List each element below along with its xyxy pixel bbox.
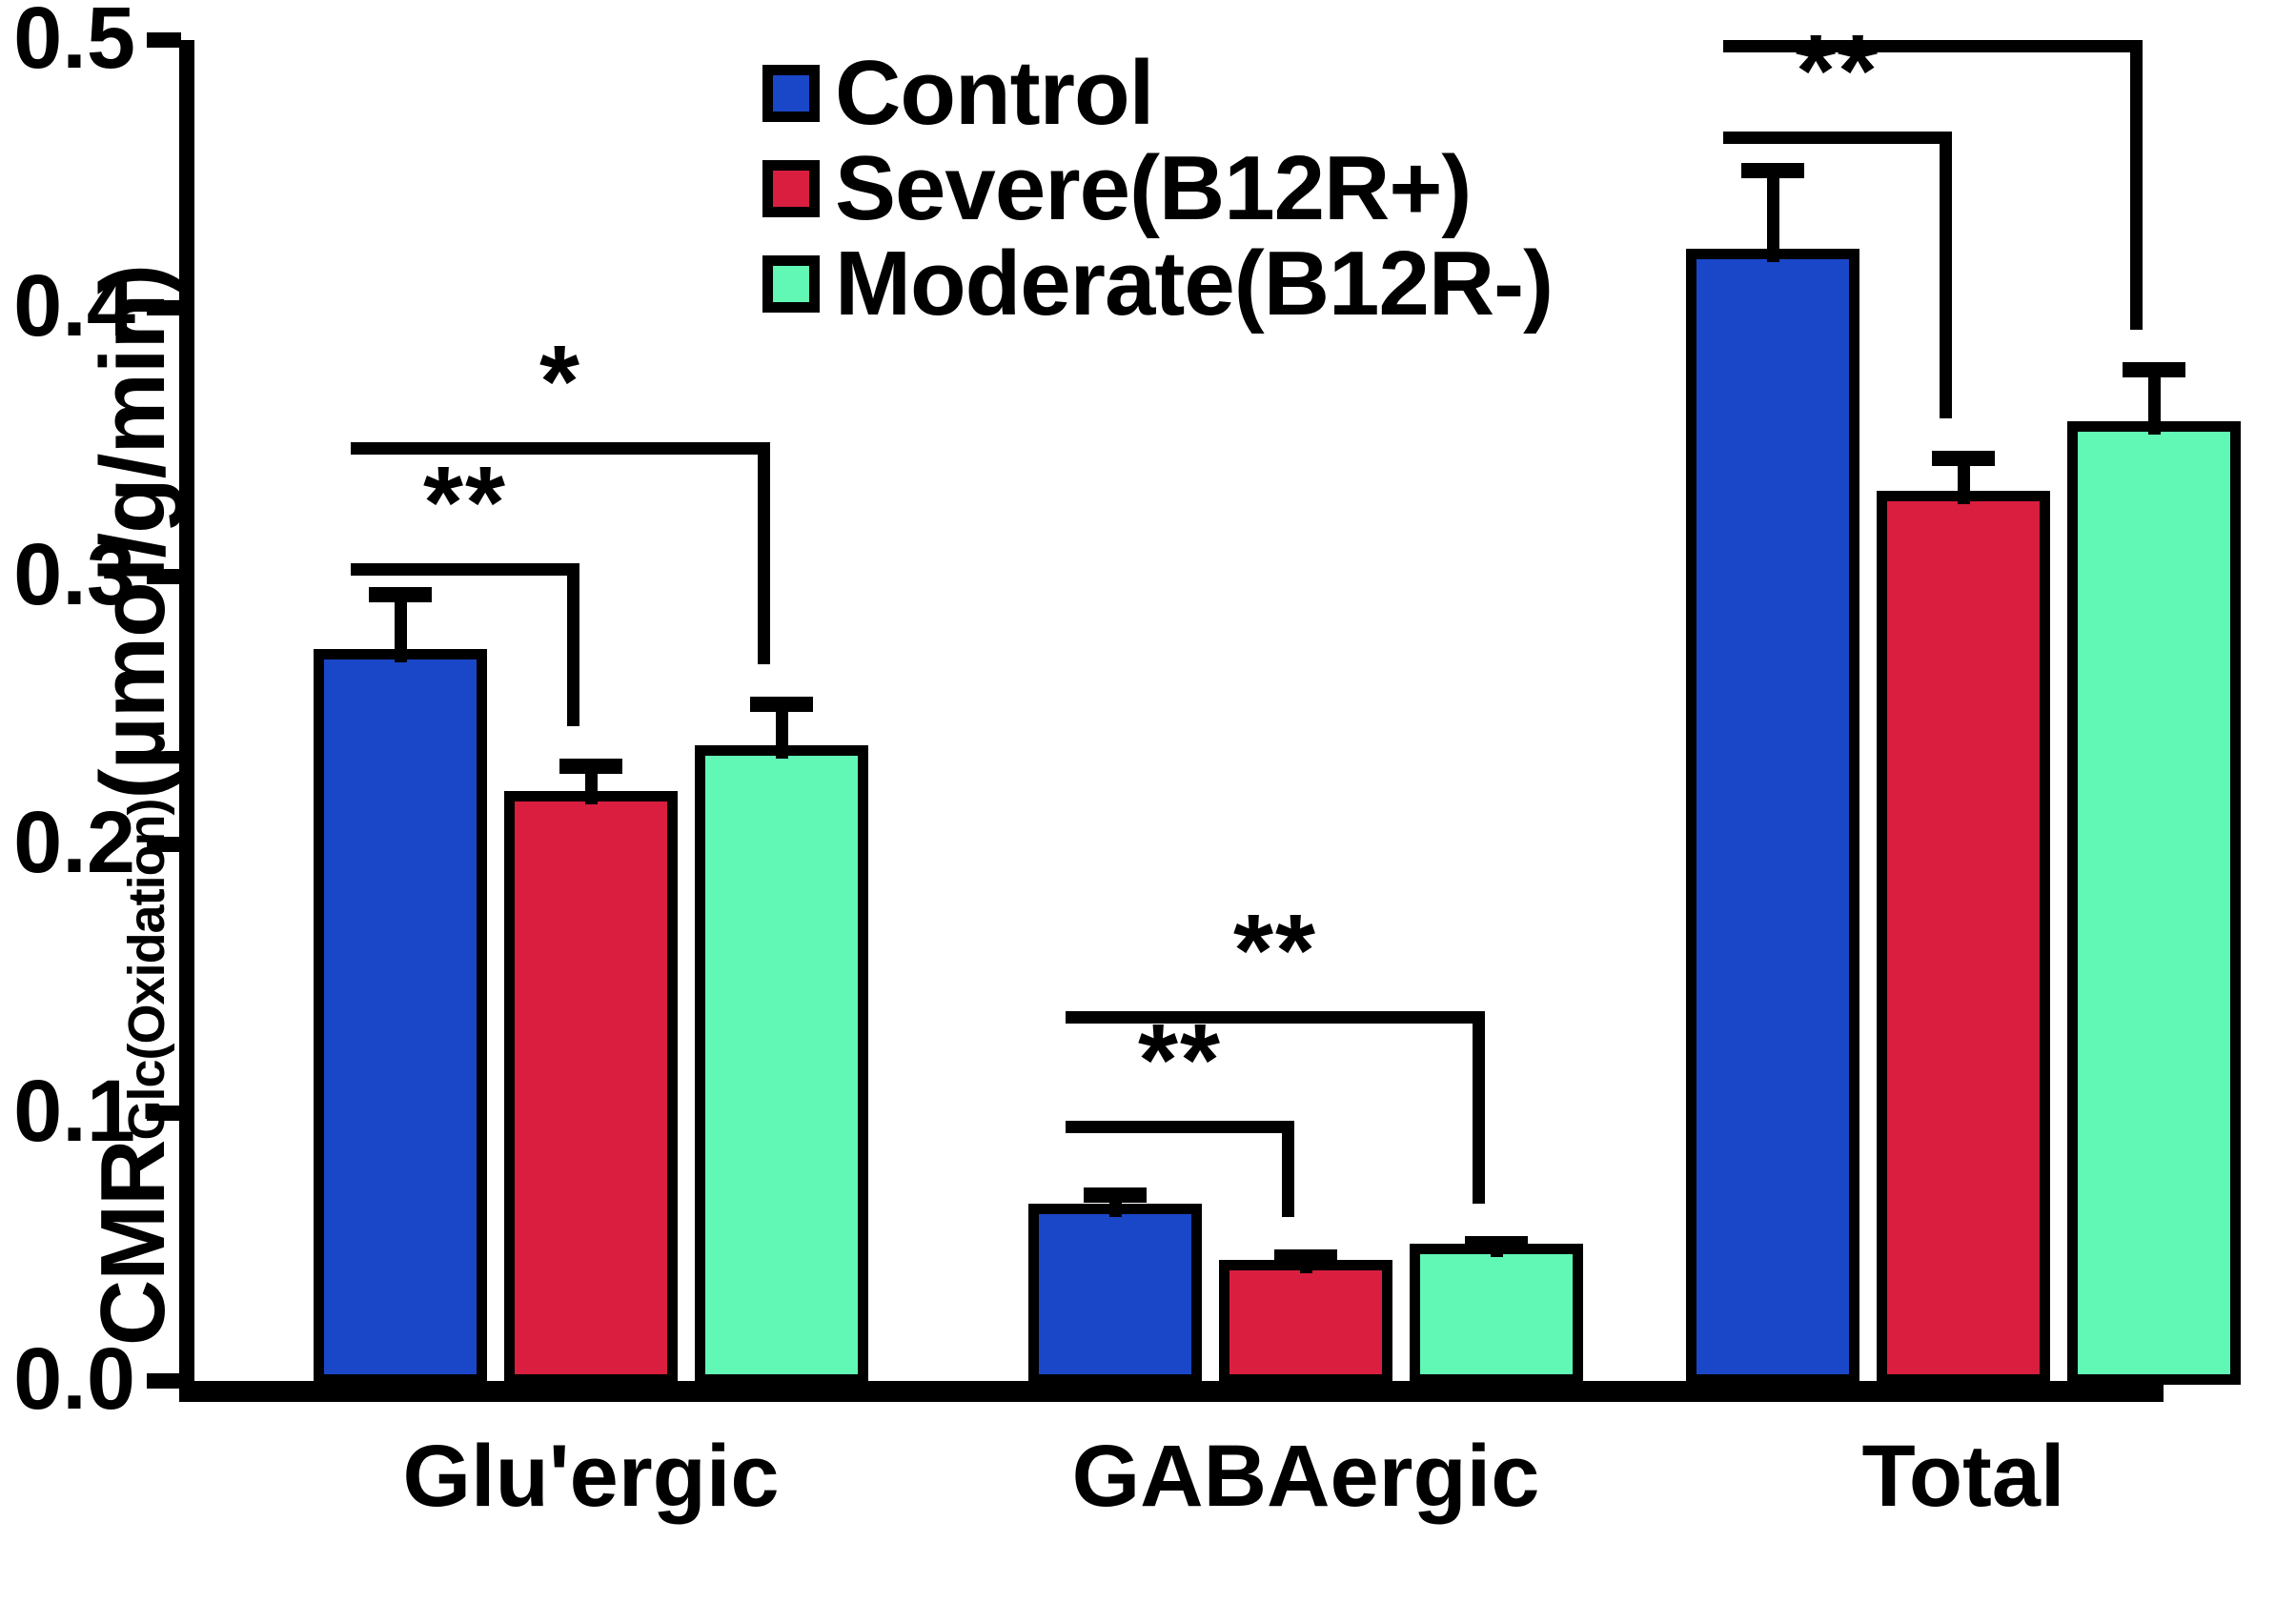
error-bar-cap (1084, 1187, 1147, 1203)
x-axis-label-gabaergic: GABAergic (1072, 1432, 1540, 1520)
error-bar-cap (1932, 451, 1995, 466)
legend-item-label: Severe(B12R+) (835, 143, 1471, 234)
x-axis-label-total: Total (1862, 1432, 2065, 1520)
significance-label: ** (423, 451, 507, 554)
significance-bracket-horizontal (351, 442, 770, 455)
significance-bracket-vertical (1473, 1011, 1485, 1204)
legend-item-control[interactable]: Control (762, 46, 1553, 141)
error-bar-cap (1465, 1236, 1528, 1251)
error-bar-cap (369, 587, 432, 602)
legend: ControlSevere(B12R+)Moderate(B12R-) (762, 46, 1553, 332)
x-axis-label-gluergic: Glu'ergic (402, 1432, 779, 1520)
bar-gabaergic-moderateb12r (1410, 1244, 1583, 1385)
error-bar-cap (1741, 163, 1804, 178)
significance-bracket-vertical (758, 442, 770, 664)
legend-item-severeb12r[interactable]: Severe(B12R+) (762, 141, 1553, 236)
significance-label: ** (1796, 19, 1879, 122)
significance-bracket-horizontal (1723, 40, 2143, 52)
chart-canvas: CMRGlc(Oxidation) (µmol/g/min) 0.00.10.2… (0, 0, 2296, 1603)
significance-label: ** (1891, 0, 1975, 30)
error-bar-cap (1274, 1249, 1337, 1265)
legend-swatch-icon (762, 160, 820, 217)
significance-bracket-vertical (2130, 40, 2143, 330)
legend-swatch-icon (762, 255, 820, 313)
bar-gluergic-severeb12r (504, 791, 678, 1385)
significance-label: ** (1233, 899, 1317, 1002)
significance-bracket-horizontal (1723, 132, 1952, 144)
bar-gluergic-moderateb12r (695, 745, 868, 1385)
error-bar-cap (2123, 362, 2185, 377)
legend-item-moderateb12r[interactable]: Moderate(B12R-) (762, 236, 1553, 332)
significance-bracket-horizontal (351, 563, 579, 576)
bar-gluergic-control (314, 649, 487, 1385)
bar-total-severeb12r (1877, 491, 2050, 1385)
significance-bracket-horizontal (1066, 1011, 1485, 1024)
error-bar-cap (750, 697, 813, 712)
significance-bracket-vertical (567, 563, 579, 726)
significance-bracket-vertical (1282, 1121, 1294, 1217)
legend-item-label: Moderate(B12R-) (835, 238, 1553, 330)
significance-label: ** (1138, 1008, 1222, 1111)
bar-gabaergic-severeb12r (1219, 1260, 1392, 1385)
legend-item-label: Control (835, 48, 1153, 139)
bar-total-moderateb12r (2067, 421, 2241, 1385)
significance-bracket-horizontal (1066, 1121, 1294, 1133)
significance-bracket-vertical (1940, 132, 1952, 418)
error-bar-cap (559, 759, 622, 774)
significance-label: * (539, 330, 581, 433)
legend-swatch-icon (762, 65, 820, 122)
bar-gabaergic-control (1028, 1204, 1202, 1385)
bar-total-control (1686, 249, 1859, 1385)
